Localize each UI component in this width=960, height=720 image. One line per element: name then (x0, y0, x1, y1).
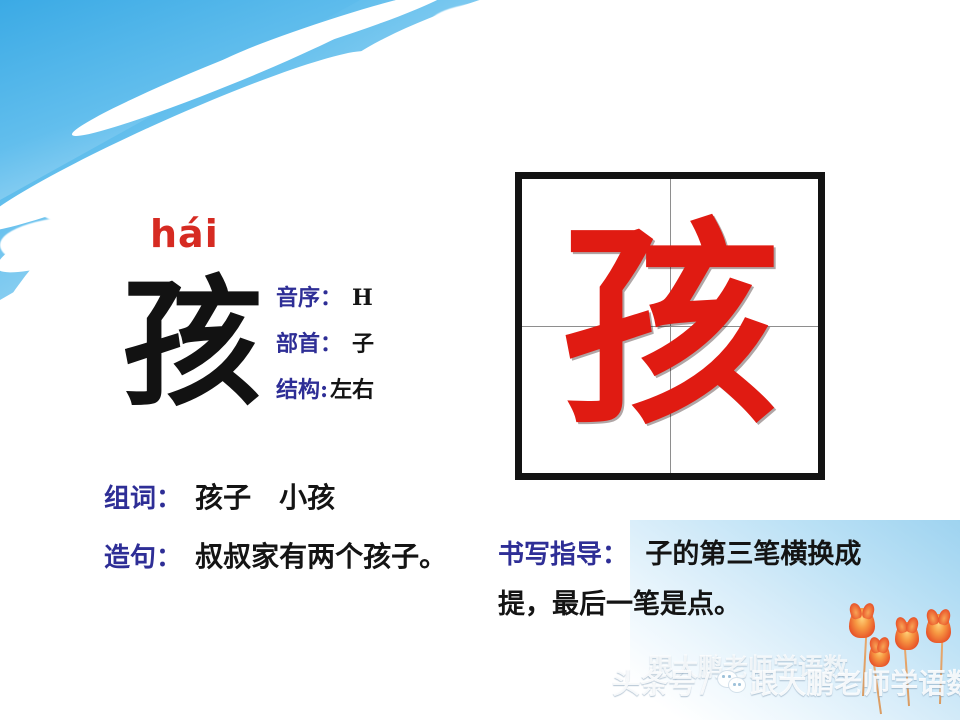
headword-character: 孩 (112, 272, 272, 417)
meta-value-bushou: 子 (352, 326, 374, 358)
word-formation-line: 组词： 孩子 小孩 (104, 476, 335, 516)
meta-row-jiegou: 结构: 左右 (276, 372, 456, 404)
writing-guidance-block: 书写指导： 子的第三笔横换成 提，最后一笔是点。 (498, 530, 938, 630)
writing-guidance-line-2: 提，最后一笔是点。 (498, 580, 938, 630)
word-formation-label: 组词： (104, 484, 182, 514)
writing-guidance-line-1: 书写指导： 子的第三笔横换成 (498, 530, 938, 580)
meta-row-yinxu: 音序： H (276, 280, 456, 312)
meta-label-bushou: 部首： (276, 326, 342, 358)
grid-character-red: 孩 (522, 179, 818, 473)
character-meta-list: 音序： H 部首： 子 结构: 左右 (276, 280, 456, 418)
slide-canvas: hái 孩 音序： H 部首： 子 结构: 左右 组词： 孩子 小孩 造句： 叔… (0, 0, 960, 720)
writing-guidance-text-1: 子的第三笔横换成 (645, 539, 861, 570)
word-formation-value: 孩子 小孩 (195, 481, 335, 514)
pinyin-label: hái (150, 215, 219, 253)
meta-value-yinxu: H (352, 285, 373, 311)
meta-label-jiegou: 结构: (276, 372, 328, 404)
tian-zi-ge-grid: 孩 (515, 172, 825, 480)
example-sentence-label: 造句： (104, 543, 182, 573)
writing-guidance-label: 书写指导： (498, 540, 628, 570)
meta-row-bushou: 部首： 子 (276, 326, 456, 358)
meta-value-jiegou: 左右 (330, 372, 374, 404)
meta-label-yinxu: 音序： (276, 280, 342, 312)
example-sentence-value: 叔叔家有两个孩子。 (195, 540, 447, 573)
example-sentence-line: 造句： 叔叔家有两个孩子。 (104, 535, 447, 575)
